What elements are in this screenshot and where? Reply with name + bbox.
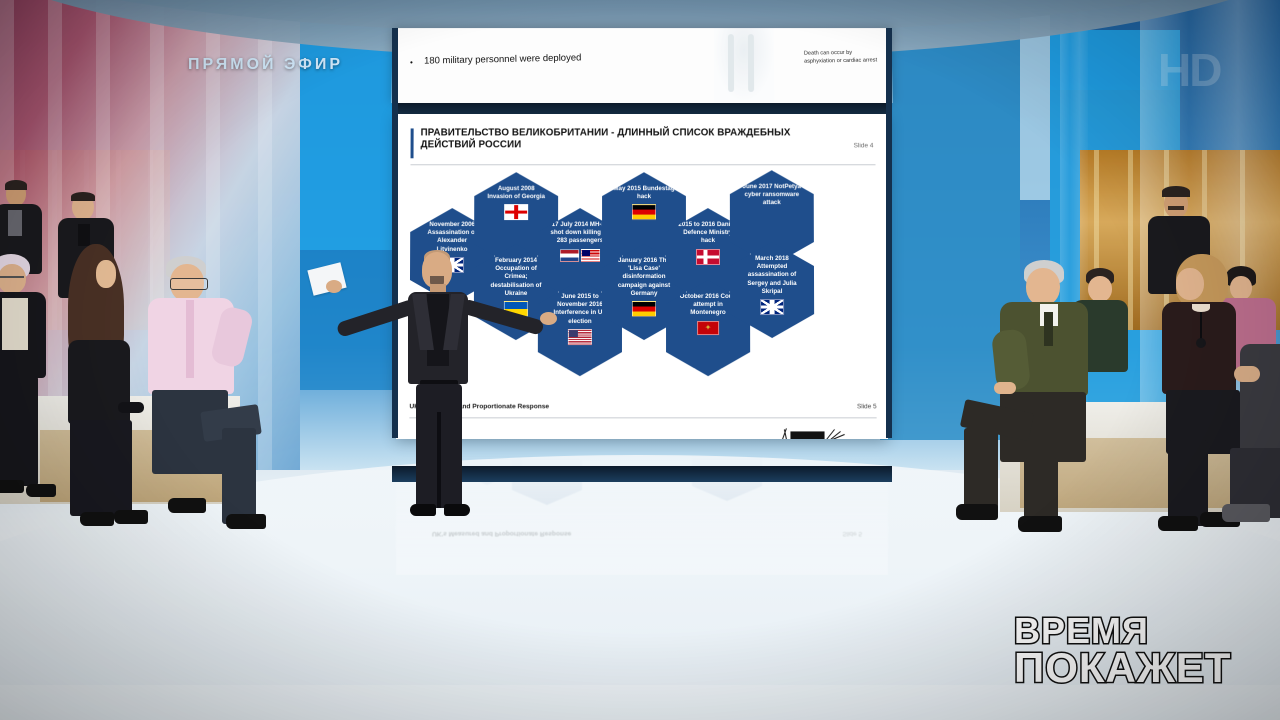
- bullet-marker: •: [410, 58, 413, 67]
- presenter: [372, 252, 512, 520]
- live-badge: ПРЯМОЙ ЭФИР: [188, 56, 343, 74]
- flag-uk-icon: [760, 299, 784, 315]
- footer-illustration: [760, 425, 850, 439]
- presenter-trouser-seam: [437, 412, 441, 508]
- flag-georgia-icon: [504, 204, 528, 220]
- reflection-slide-number: Slide 5: [842, 530, 862, 537]
- title-divider: [410, 164, 875, 165]
- footer-slide-number: Slide 5: [857, 403, 877, 410]
- hexagon-label: January 2016 The 'Lisa Case' disinformat…: [613, 257, 675, 298]
- flag-germany-icon: [632, 204, 656, 220]
- guest-man-olive-jacket: [968, 258, 1118, 538]
- guest-man-pink-shirt: [140, 250, 270, 540]
- previous-slide: • 180 military personnel were deployed D…: [392, 28, 893, 103]
- hexagon-label: November 2006 Assassination of Alexander…: [421, 221, 483, 254]
- hexagon-label: 17 July 2014 MH-17 shot down killing all…: [549, 221, 611, 246]
- hexagon-label: October 2016 Coup attempt in Montenegro: [677, 293, 739, 318]
- flag-denmark-icon: [696, 249, 720, 265]
- slide-header: ПРАВИТЕЛЬСТВО ВЕЛИКОБРИТАНИИ - ДЛИННЫЙ С…: [411, 128, 876, 162]
- flag-netherlands-icon: [560, 249, 579, 262]
- previous-slide-note: Death can occur by asphyxiation or cardi…: [804, 49, 882, 65]
- slide-number: Slide 4: [854, 142, 874, 149]
- hexagon-label: May 2015 Bundestag hack: [613, 185, 675, 201]
- show-logo: ВРЕМЯ ПОКАЖЕТ: [1014, 614, 1264, 702]
- hexagon-label: 2015 to 2016 Danish Defence Ministry hac…: [677, 221, 739, 246]
- broadcast-screenshot: HD ПРЯМОЙ ЭФИР UK's Measured and Proport…: [0, 0, 1280, 720]
- slide-illustration: [714, 28, 774, 102]
- presenter-shoe: [410, 504, 436, 516]
- flag-malaysia-icon: [581, 249, 600, 262]
- eyeglasses: [170, 278, 208, 290]
- title-accent-bar: [411, 128, 414, 158]
- flag-montenegro-icon: [697, 321, 719, 335]
- guest-partial-right: [1240, 344, 1280, 544]
- flag-pair: [560, 249, 600, 262]
- hexagon-label: August 2008 Invasion of Georgia: [485, 185, 547, 201]
- slide-title: ПРАВИТЕЛЬСТВО ВЕЛИКОБРИТАНИИ - ДЛИННЫЙ С…: [421, 127, 826, 151]
- previous-slide-bullet: 180 military personnel were deployed: [424, 52, 581, 66]
- show-logo-line1: ВРЕМЯ: [1014, 614, 1264, 648]
- hexagon-label: June 2015 to November 2016 Interference …: [549, 293, 611, 326]
- reflection-footer-label: UK's Measured and Proportionate Response: [432, 530, 571, 537]
- flag-germany-icon: [632, 301, 656, 317]
- hexagon-label: March 2018 Attempted assassination of Se…: [741, 255, 803, 296]
- hd-watermark: HD: [1158, 42, 1228, 98]
- flag-usa-icon: [568, 329, 592, 345]
- presenter-hand-left: [326, 280, 342, 293]
- show-logo-line2: ПОКАЖЕТ: [1014, 648, 1264, 688]
- hexagon-label: June 2017 NotPetya cyber ransomware atta…: [741, 183, 803, 207]
- presenter-shoe: [444, 504, 470, 516]
- presenter-hand-right: [540, 312, 557, 325]
